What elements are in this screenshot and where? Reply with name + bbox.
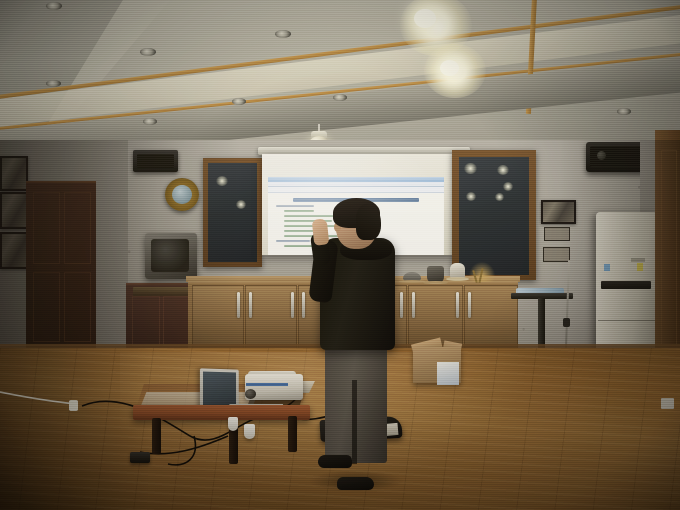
downlight-icon — [275, 30, 291, 38]
cabinet-handle[interactable] — [249, 292, 252, 318]
cabinet-handle[interactable] — [468, 292, 471, 318]
white-extension-cord — [0, 392, 78, 404]
table-leg — [288, 416, 297, 452]
window-reflection — [464, 163, 477, 174]
downlight-icon — [140, 48, 156, 56]
cabinet-handle[interactable] — [400, 292, 403, 318]
vessel-stand — [423, 281, 448, 284]
window-reflection — [466, 192, 476, 201]
downlight-icon — [46, 2, 62, 10]
hat-stand — [446, 277, 469, 281]
hat-stand — [399, 280, 425, 283]
white-extension-plug — [69, 400, 78, 411]
presenter-hair-back — [356, 204, 381, 240]
photograph-root — [0, 0, 680, 510]
paper-cup[interactable] — [244, 424, 255, 439]
cabinet-handle[interactable] — [291, 292, 294, 318]
projector-stripe — [246, 383, 288, 386]
ceiling-lamp-core — [414, 9, 436, 28]
window-reflection — [495, 193, 504, 201]
projector-lens-icon — [245, 389, 256, 399]
paper-cup[interactable] — [228, 417, 238, 431]
table-leg — [229, 428, 238, 464]
cabinet-handle[interactable] — [456, 292, 459, 318]
presenter-shoe — [337, 477, 374, 490]
table-leg — [152, 418, 161, 454]
wall-shadow-left — [0, 140, 240, 355]
downlight-icon — [46, 80, 61, 87]
window-reflection — [503, 182, 513, 191]
window-center-right-glass — [459, 157, 529, 275]
ceiling-lamp-core — [440, 60, 459, 76]
power-cable — [168, 436, 195, 465]
downlight-icon — [333, 94, 347, 101]
cabinet-handle[interactable] — [302, 292, 305, 318]
laptop-display[interactable] — [203, 371, 236, 408]
downlight-icon — [232, 98, 246, 105]
trouser-leg-separation — [352, 380, 357, 464]
presenter-raised-hand — [312, 218, 330, 245]
wall-shadow-right — [560, 140, 680, 355]
window-reflection — [497, 165, 509, 175]
cabinet-handle[interactable] — [412, 292, 415, 318]
downlight-icon — [143, 118, 157, 125]
presenter-shoe — [318, 455, 352, 468]
downlight-icon — [617, 108, 631, 115]
power-adapter-brick — [130, 452, 150, 463]
